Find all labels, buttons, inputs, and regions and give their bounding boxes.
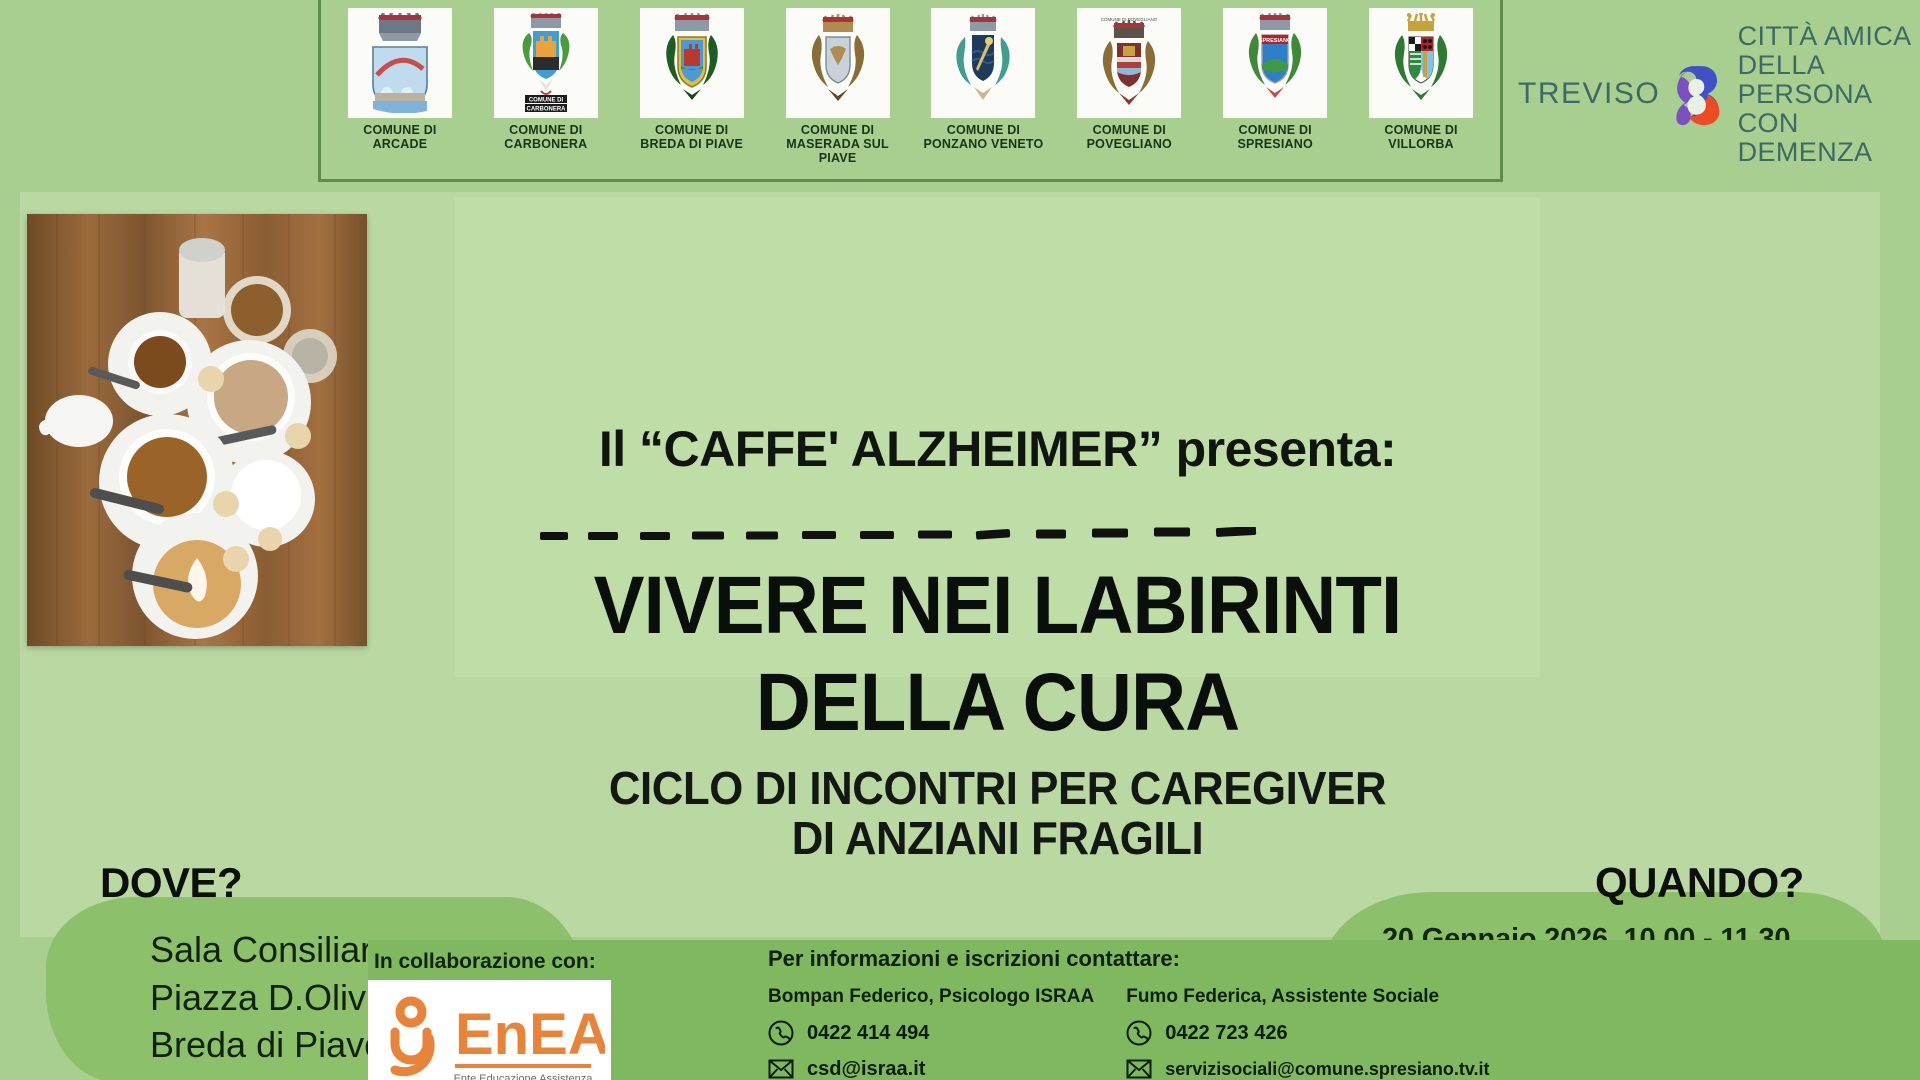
treviso-tagline-line2: DELLA PERSONA (1738, 51, 1920, 109)
comune-label: COMUNE DI ARCADE (363, 123, 436, 151)
contact-phone: 0422 723 426 (1165, 1022, 1287, 1045)
dove-heading: DOVE? (100, 859, 242, 907)
contact-name: Bompan Federico, Psicologo ISRAA (768, 986, 1094, 1008)
comune-label-line2: CARBONERA (504, 137, 587, 151)
contact-info-title: Per informazioni e iscrizioni contattare… (768, 946, 1920, 972)
comune-label: COMUNE DI CARBONERA (504, 123, 587, 151)
poster-subtitle-line1: CICLO DI INCONTRI PER CAREGIVER (482, 764, 1513, 814)
contact-email: csd@israa.it (807, 1058, 925, 1080)
treviso-tagline-line1: CITTÀ AMICA (1738, 22, 1920, 51)
two-people-icon (1670, 55, 1727, 133)
comune-label-line2: SPRESIANO (1237, 137, 1312, 151)
comune-label-line2: PONZANO VENETO (923, 137, 1043, 151)
contact-name: Fumo Federica, Assistente Sociale (1126, 986, 1489, 1008)
treviso-tagline: CITTÀ AMICA DELLA PERSONA CON DEMENZA (1738, 22, 1920, 166)
contact-email-row[interactable]: csd@israa.it (768, 1056, 1094, 1080)
poster-body: Il “CAFFE' ALZHEIMER” presenta: VIVERE N… (0, 182, 1920, 922)
spresiano-crest-icon: SPRESIANO (1223, 8, 1327, 118)
contact-email-row[interactable]: servizisociali@comune.spresiano.tv.it (1126, 1056, 1489, 1080)
comune-label-line2: MASERADA SUL PIAVE (772, 137, 904, 165)
enea-tagline: Ente Educazione Assistenza (453, 1073, 593, 1080)
poster-title-line2: DELLA CURA (493, 664, 1502, 743)
collaboration-title: In collaborazione con: (374, 950, 596, 974)
comune-label-line1: COMUNE DI (947, 123, 1020, 137)
comune-maserada-sul-piave: COMUNE DI MASERADA SUL PIAVE (772, 8, 904, 165)
phone-icon (1126, 1020, 1152, 1046)
comune-label: COMUNE DI POVEGLIANO (1087, 123, 1172, 151)
envelope-icon (1126, 1056, 1152, 1080)
presenta-line: Il “CAFFE' ALZHEIMER” presenta: (475, 420, 1520, 478)
phone-icon (768, 1020, 794, 1046)
breda-di-piave-crest-icon (640, 8, 744, 118)
comune-label-line2: ARCADE (363, 137, 436, 151)
arcade-crest-icon (348, 8, 452, 118)
comune-arcade: COMUNE DI ARCADE (334, 8, 466, 151)
comune-ponzano-veneto: COMUNE DI PONZANO VENETO (917, 8, 1049, 151)
treviso-dementia-friendly-logo: TREVISO CITTÀ AMICA DELLA PERSONA CON DE… (1518, 22, 1920, 166)
contact-email: servizisociali@comune.spresiano.tv.it (1165, 1059, 1489, 1080)
contact-phone: 0422 414 494 (807, 1022, 929, 1045)
comune-carbonera: COMUNE DI CARBONERA COMUNE DI CARBONERA (480, 8, 612, 151)
villorba-crest-icon (1369, 8, 1473, 118)
footer-bar: In collaborazione con: EnEA Ente Educazi… (368, 940, 1920, 1080)
poster-subtitle-line2: DI ANZIANI FRAGILI (482, 814, 1513, 864)
comune-label-line1: COMUNE DI (1239, 123, 1312, 137)
svg-text:COMUNE DI: COMUNE DI (529, 98, 564, 104)
svg-text:CARBONERA: CARBONERA (526, 107, 566, 113)
contacts-list: Bompan Federico, Psicologo ISRAA 0422 41… (768, 986, 1920, 1080)
poster-title-line1: VIVERE NEI LABIRINTI (493, 567, 1502, 646)
ponzano-veneto-crest-icon (931, 8, 1035, 118)
comune-label-line1: COMUNE DI (1093, 123, 1166, 137)
coffee-photo (27, 214, 367, 646)
comune-label: COMUNE DI PONZANO VENETO (923, 123, 1043, 151)
comune-label-line1: COMUNE DI (509, 123, 582, 137)
comune-label: COMUNE DI SPRESIANO (1237, 123, 1312, 151)
municipal-logo-band: COMUNE DI ARCADE (0, 0, 1920, 182)
carbonera-crest-icon: COMUNE DI CARBONERA (494, 8, 598, 118)
quando-heading: QUANDO? (1595, 859, 1804, 907)
treviso-wordmark: TREVISO (1518, 77, 1660, 111)
comune-villorba: COMUNE DI VILLORBA (1355, 8, 1487, 151)
maserada-sul-piave-crest-icon (786, 8, 890, 118)
comune-label-line1: COMUNE DI (363, 123, 436, 137)
contact-phone-row[interactable]: 0422 723 426 (1126, 1020, 1489, 1046)
povegliano-crest-icon: COMUNE DI POVEGLIANO (1077, 8, 1181, 118)
contact-card: Bompan Federico, Psicologo ISRAA 0422 41… (768, 986, 1094, 1080)
comune-breda-di-piave: COMUNE DI BREDA DI PIAVE (626, 8, 758, 151)
comune-label-line1: COMUNE DI (655, 123, 728, 137)
comune-label: COMUNE DI MASERADA SUL PIAVE (772, 123, 904, 165)
comune-label-line2: BREDA DI PIAVE (640, 137, 743, 151)
comune-spresiano: SPRESIANO COMUNE DI SPRESIANO (1209, 8, 1341, 151)
dashed-divider (540, 527, 1270, 541)
treviso-tagline-line3: CON DEMENZA (1738, 109, 1920, 167)
envelope-icon (768, 1056, 794, 1080)
svg-text:EnEA: EnEA (455, 1002, 605, 1067)
comune-label-line1: COMUNE DI (1384, 123, 1457, 137)
svg-text:SPRESIANO: SPRESIANO (1259, 38, 1292, 44)
comune-label-line2: VILLORBA (1384, 137, 1457, 151)
comune-label: COMUNE DI VILLORBA (1384, 123, 1457, 151)
comune-label: COMUNE DI BREDA DI PIAVE (640, 123, 743, 151)
enea-logo: EnEA Ente Educazione Assistenza (368, 980, 611, 1080)
contact-phone-row[interactable]: 0422 414 494 (768, 1020, 1094, 1046)
comune-label-line1: COMUNE DI (801, 123, 874, 137)
poster-subtitle: CICLO DI INCONTRI PER CAREGIVER DI ANZIA… (482, 764, 1513, 863)
comune-label-line2: POVEGLIANO (1087, 137, 1172, 151)
comune-povegliano: COMUNE DI POVEGLIANO C (1063, 8, 1195, 151)
contact-info-column: Per informazioni e iscrizioni contattare… (768, 946, 1920, 1080)
contact-card: Fumo Federica, Assistente Sociale 0422 7… (1126, 986, 1489, 1080)
comuni-logo-strip: COMUNE DI ARCADE (318, 0, 1503, 182)
